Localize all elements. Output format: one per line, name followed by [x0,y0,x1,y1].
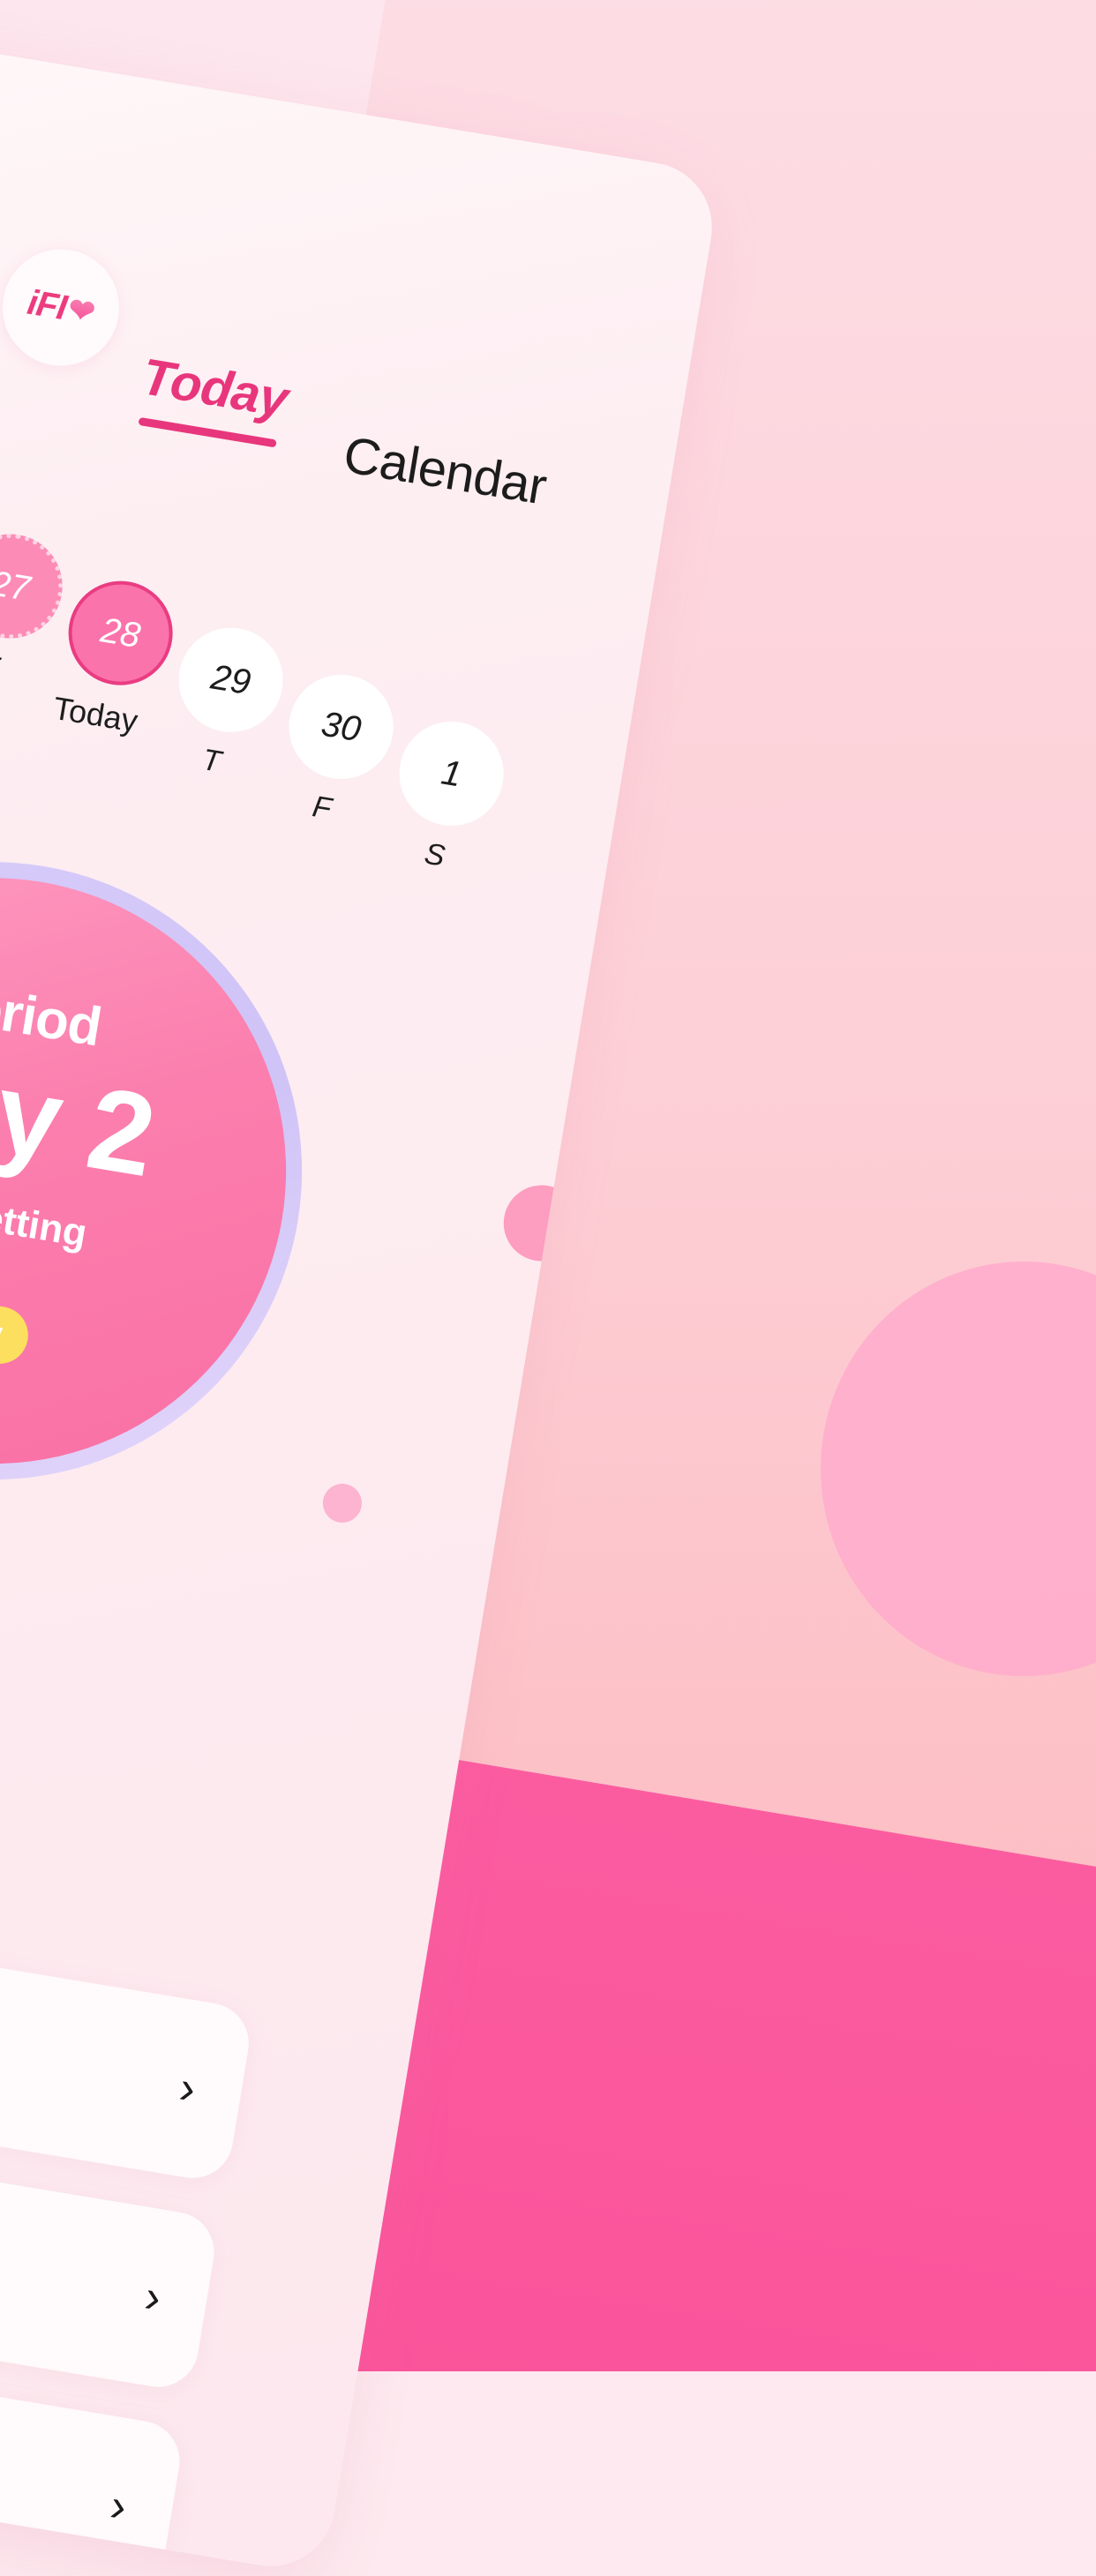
day-circle-1[interactable]: 1 [392,714,512,834]
cycle-ring-inner: Period Day 2 Chances of getting pregnant… [0,834,330,1508]
chevron-right-icon[interactable]: › [176,2064,199,2112]
chevron-right-icon[interactable]: › [142,2273,165,2321]
day-weekday-28: Today [50,690,140,740]
tab-calendar[interactable]: Calendar [340,425,551,517]
app-logo-text: iFI❤ [25,282,97,333]
day-circle-29[interactable]: 29 [171,620,291,740]
decorative-dot-small [320,1481,365,1526]
day-circle-30[interactable]: 30 [282,667,402,787]
cycle-ring[interactable]: Period Day 2 Chances of getting pregnant… [0,816,349,1526]
day-circle-27[interactable]: 27 [0,527,70,647]
day-weekday-30: F [310,790,334,827]
day-weekday-29: T [199,743,223,780]
chevron-right-icon[interactable]: › [107,2482,130,2530]
cycle-phase-title: Period [0,970,105,1060]
card-period[interactable]: Period › [0,1892,255,2184]
heart-icon: ❤ [65,290,97,331]
day-weekday-27: T [0,648,1,685]
pregnancy-chance-badge: Low [0,1292,33,1368]
app-logo-label: iFI [25,282,69,328]
day-circle-28[interactable]: 28 [61,573,181,693]
tab-today[interactable]: Today [138,347,292,429]
app-logo[interactable]: iFI❤ [0,241,128,375]
day-weekday-1: S [422,837,447,874]
